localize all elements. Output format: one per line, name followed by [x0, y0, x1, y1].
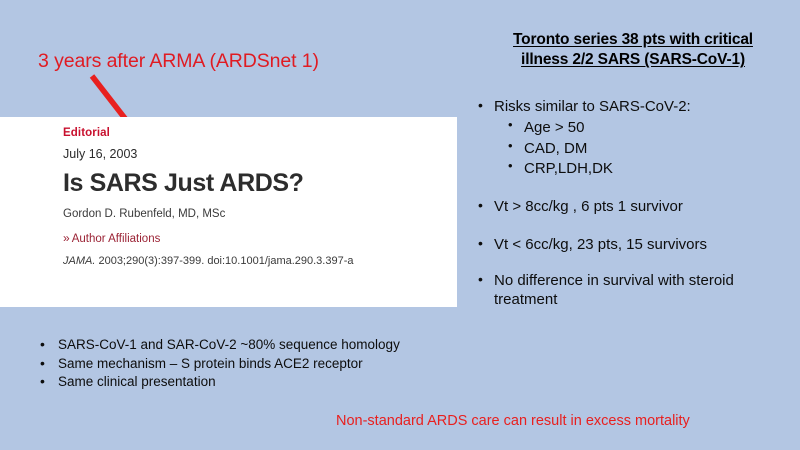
- list-item: • Vt > 8cc/kg , 6 pts 1 survivor: [474, 197, 792, 217]
- spacer: [474, 180, 792, 197]
- list-item-label: Vt > 8cc/kg , 6 pts 1 survivor: [494, 198, 683, 215]
- list-item: • CRP,LDH,DK: [474, 159, 792, 179]
- footer-note: Non-standard ARDS care can result in exc…: [336, 413, 796, 429]
- list-item-label: Risks similar to SARS-CoV-2:: [494, 98, 691, 115]
- bullet-dot-icon: •: [508, 158, 513, 175]
- bullet-dot-icon: •: [478, 270, 483, 288]
- jama-author: Gordon D. Rubenfeld, MD, MSc: [63, 208, 445, 220]
- bullet-dot-icon: •: [40, 335, 45, 353]
- slide-canvas: 3 years after ARMA (ARDSnet 1) Editorial…: [0, 0, 800, 450]
- right-column-heading: Toronto series 38 pts with critical illn…: [474, 30, 792, 71]
- list-item-label: CAD, DM: [524, 140, 587, 157]
- right-heading-line-2: illness 2/2 SARS (SARS-CoV-1): [521, 51, 745, 68]
- list-item-label: No difference in survival with steroid t…: [494, 272, 734, 309]
- jama-citation-journal: JAMA.: [63, 255, 95, 267]
- bullet-dot-icon: •: [478, 196, 483, 214]
- left-bullet-list: • SARS-CoV-1 and SAR-CoV-2 ~80% sequence…: [32, 336, 452, 392]
- jama-citation: JAMA. 2003;290(3):397-399. doi:10.1001/j…: [63, 255, 445, 267]
- right-column: Toronto series 38 pts with critical illn…: [474, 30, 792, 312]
- jama-article-title: Is SARS Just ARDS?: [63, 170, 445, 196]
- list-item: • Risks similar to SARS-CoV-2:: [474, 97, 792, 117]
- bullet-dot-icon: •: [40, 372, 45, 390]
- list-item-label: Vt < 6cc/kg, 23 pts, 15 survivors: [494, 236, 707, 253]
- list-item-label: Age > 50: [524, 119, 584, 136]
- list-item: • CAD, DM: [474, 139, 792, 159]
- list-item-label: CRP,LDH,DK: [524, 160, 613, 177]
- list-item-label: Same mechanism – S protein binds ACE2 re…: [58, 356, 363, 371]
- jama-editorial-card: Editorial July 16, 2003 Is SARS Just ARD…: [0, 117, 457, 307]
- jama-kicker: Editorial: [63, 127, 445, 139]
- list-item: • SARS-CoV-1 and SAR-CoV-2 ~80% sequence…: [32, 336, 452, 354]
- list-item: • Same clinical presentation: [32, 373, 452, 391]
- list-item-label: SARS-CoV-1 and SAR-CoV-2 ~80% sequence h…: [58, 337, 400, 352]
- jama-publication-date: July 16, 2003: [63, 147, 445, 161]
- bullet-dot-icon: •: [478, 234, 483, 252]
- list-item: • Same mechanism – S protein binds ACE2 …: [32, 355, 452, 373]
- right-bullet-list: • Risks similar to SARS-CoV-2: • Age > 5…: [474, 97, 792, 310]
- list-item: • Vt < 6cc/kg, 23 pts, 15 survivors: [474, 235, 792, 255]
- author-affiliations-link[interactable]: »Author Affiliations: [63, 231, 445, 245]
- bullet-dot-icon: •: [40, 354, 45, 372]
- bullet-dot-icon: •: [508, 138, 513, 155]
- slide-headline: 3 years after ARMA (ARDSnet 1): [38, 50, 418, 73]
- list-item: • No difference in survival with steroid…: [474, 271, 792, 310]
- bullet-dot-icon: •: [508, 117, 513, 134]
- author-affiliations-label: Author Affiliations: [72, 233, 161, 245]
- jama-citation-detail: 2003;290(3):397-399. doi:10.1001/jama.29…: [95, 255, 353, 267]
- spacer: [474, 218, 792, 235]
- bullet-dot-icon: •: [478, 96, 483, 114]
- double-chevron-right-icon: »: [63, 231, 70, 245]
- list-item-label: Same clinical presentation: [58, 374, 216, 389]
- right-heading-line-1: Toronto series 38 pts with critical: [513, 31, 753, 48]
- list-item: • Age > 50: [474, 118, 792, 138]
- spacer: [474, 257, 792, 271]
